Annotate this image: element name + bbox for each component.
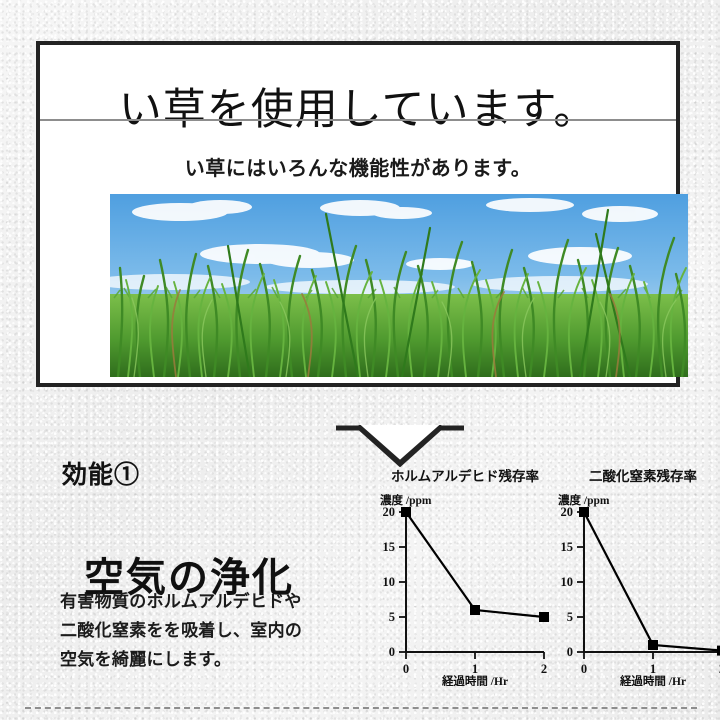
chart-title: 二酸化窒素残存率 [589, 468, 697, 484]
y-tick-labels: 0 5 10 15 20 [561, 505, 574, 659]
chart-x-axis-label: 経過時間 /Hr [619, 674, 686, 686]
y-tick-marks [577, 512, 584, 652]
hero-panel: い草を使用しています。 い草にはいろんな機能性があります。 [36, 41, 680, 387]
igusa-field-photo [110, 194, 688, 377]
svg-text:0: 0 [403, 662, 409, 676]
chart-formaldehyde: ホルムアルデヒド残存率 濃度 /ppm 0 5 10 15 20 0 [368, 466, 554, 686]
benefit-description-line-1: 有害物質のホルムアルデヒドや [60, 587, 322, 616]
chart-title: ホルムアルデヒド残存率 [391, 468, 540, 484]
svg-text:20: 20 [561, 505, 574, 519]
x-tick-marks [584, 652, 720, 659]
benefit-description-line-2: 二酸化窒素をを吸着し、室内の [60, 616, 322, 645]
chart-x-axis-label: 経過時間 /Hr [441, 674, 508, 686]
benefit-description-line-3: 空気を綺麗にします。 [60, 645, 322, 674]
section-divider [25, 707, 697, 709]
svg-text:10: 10 [561, 575, 574, 589]
chart-nitrogen-dioxide: 二酸化窒素残存率 濃度 /ppm 0 5 10 15 20 0 1 2 [546, 466, 720, 686]
svg-text:5: 5 [389, 610, 395, 624]
svg-text:15: 15 [561, 540, 574, 554]
svg-text:0: 0 [567, 645, 573, 659]
svg-text:10: 10 [383, 575, 396, 589]
benefit-description: 有害物質のホルムアルデヒドや 二酸化窒素をを吸着し、室内の 空気を綺麗にします。 [60, 587, 322, 674]
igusa-field-illustration [110, 194, 688, 377]
y-tick-labels: 0 5 10 15 20 [383, 505, 396, 659]
svg-text:15: 15 [383, 540, 396, 554]
x-tick-labels: 0 1 2 [403, 662, 547, 676]
svg-text:5: 5 [567, 610, 573, 624]
title-divider [40, 119, 676, 121]
data-markers [579, 507, 720, 656]
y-tick-marks [399, 512, 406, 652]
x-tick-labels: 0 1 2 [581, 662, 720, 676]
svg-text:1: 1 [650, 662, 656, 676]
svg-text:0: 0 [581, 662, 587, 676]
page-title: い草を使用しています。 [40, 74, 676, 148]
data-markers [401, 507, 549, 622]
x-tick-marks [406, 652, 544, 659]
data-line [584, 512, 720, 651]
svg-text:0: 0 [389, 645, 395, 659]
benefit-index-label: 効能① [62, 455, 140, 491]
svg-text:1: 1 [472, 662, 478, 676]
hero-subtitle: い草にはいろんな機能性があります。 [40, 141, 676, 197]
svg-text:20: 20 [383, 505, 396, 519]
data-line [406, 512, 544, 617]
